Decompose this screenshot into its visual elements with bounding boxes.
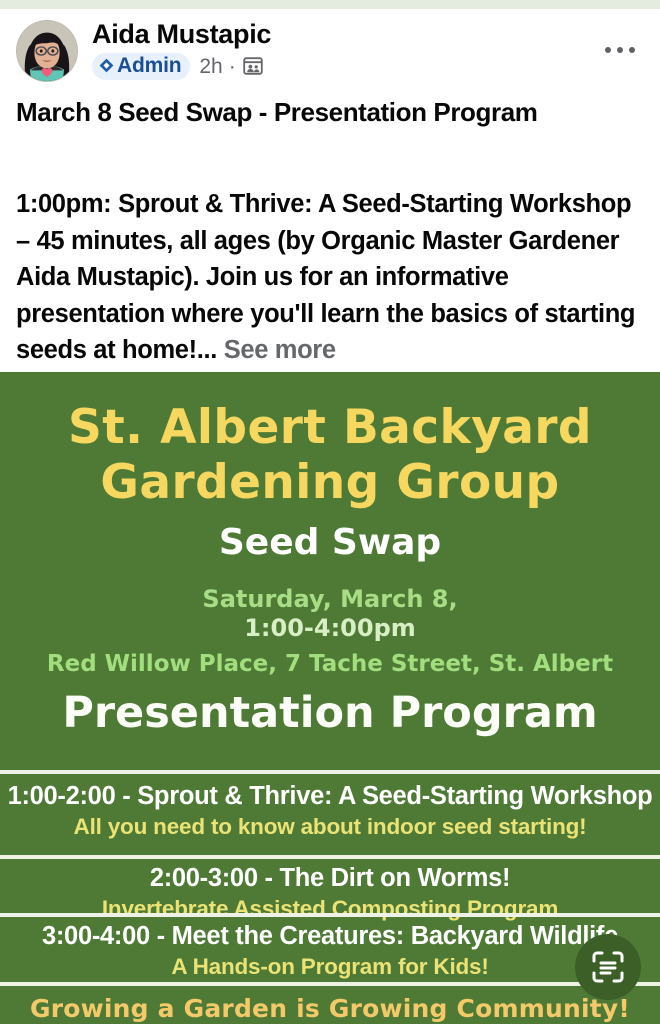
poster-venue: Red Willow Place, 7 Tache Street, St. Al… [0, 650, 660, 678]
author-name[interactable]: Aida Mustapic [92, 18, 271, 50]
poster-event-date: Saturday, March 8, 1:00-4:00pm [0, 585, 660, 643]
post-options-button[interactable] [598, 36, 642, 64]
post-attached-image[interactable]: St. Albert Backyard Gardening Group Seed… [0, 372, 660, 1024]
schedule-item-subtitle: Invertebrate Assisted Composting Program [0, 894, 660, 923]
schedule-item-title: 2:00-3:00 - The Dirt on Worms! [0, 862, 660, 894]
schedule-item-subtitle: All you need to know about indoor seed s… [0, 812, 660, 841]
post-timestamp[interactable]: 2h [199, 55, 222, 78]
poster-program-heading: Presentation Program [0, 687, 660, 739]
three-dots-icon [629, 47, 635, 53]
poster-event-name: Seed Swap [0, 522, 660, 564]
poster-time-line: 1:00-4:00pm [0, 614, 660, 643]
scan-text-icon [590, 949, 626, 985]
admin-badge-label: Admin [117, 54, 181, 77]
poster-schedule-item: 1:00-2:00 - Sprout & Thrive: A Seed-Star… [0, 780, 660, 841]
poster-divider [0, 855, 660, 859]
meta-separator: · [229, 55, 236, 78]
schedule-item-subtitle: A Hands-on Program for Kids! [0, 952, 660, 981]
top-background-strip [0, 0, 660, 9]
poster-tagline: Growing a Garden is Growing Community! [0, 993, 660, 1024]
poster-group-title-line2: Gardening Group [0, 455, 660, 510]
poster-date-line: Saturday, March 8, [0, 585, 660, 614]
admin-diamond-icon [99, 58, 114, 73]
post-title: March 8 Seed Swap - Presentation Program [16, 95, 644, 129]
post-meta-row: Admin 2h · [92, 52, 271, 80]
three-dots-icon [617, 47, 623, 53]
three-dots-icon [605, 47, 611, 53]
avatar[interactable] [16, 20, 78, 82]
poster-divider [0, 770, 660, 774]
poster-divider [0, 982, 660, 986]
scan-text-button[interactable] [575, 934, 641, 1000]
poster-schedule-item: 3:00-4:00 - Meet the Creatures: Backyard… [0, 920, 660, 981]
poster-divider [0, 913, 660, 917]
schedule-item-title: 1:00-2:00 - Sprout & Thrive: A Seed-Star… [0, 780, 660, 812]
post-body: 1:00pm: Sprout & Thrive: A Seed-Starting… [16, 186, 650, 369]
author-block: Aida Mustapic Admin 2h · [92, 18, 271, 80]
post-header: Aida Mustapic Admin 2h · [0, 14, 660, 86]
app-screen: Aida Mustapic Admin 2h · [0, 0, 660, 1024]
group-members-icon[interactable] [242, 55, 264, 77]
schedule-item-title: 3:00-4:00 - Meet the Creatures: Backyard… [0, 920, 660, 952]
poster-group-title: St. Albert Backyard Gardening Group [0, 400, 660, 510]
see-more-link[interactable]: See more [224, 336, 336, 364]
poster-group-title-line1: St. Albert Backyard [0, 400, 660, 455]
admin-badge[interactable]: Admin [92, 53, 190, 80]
